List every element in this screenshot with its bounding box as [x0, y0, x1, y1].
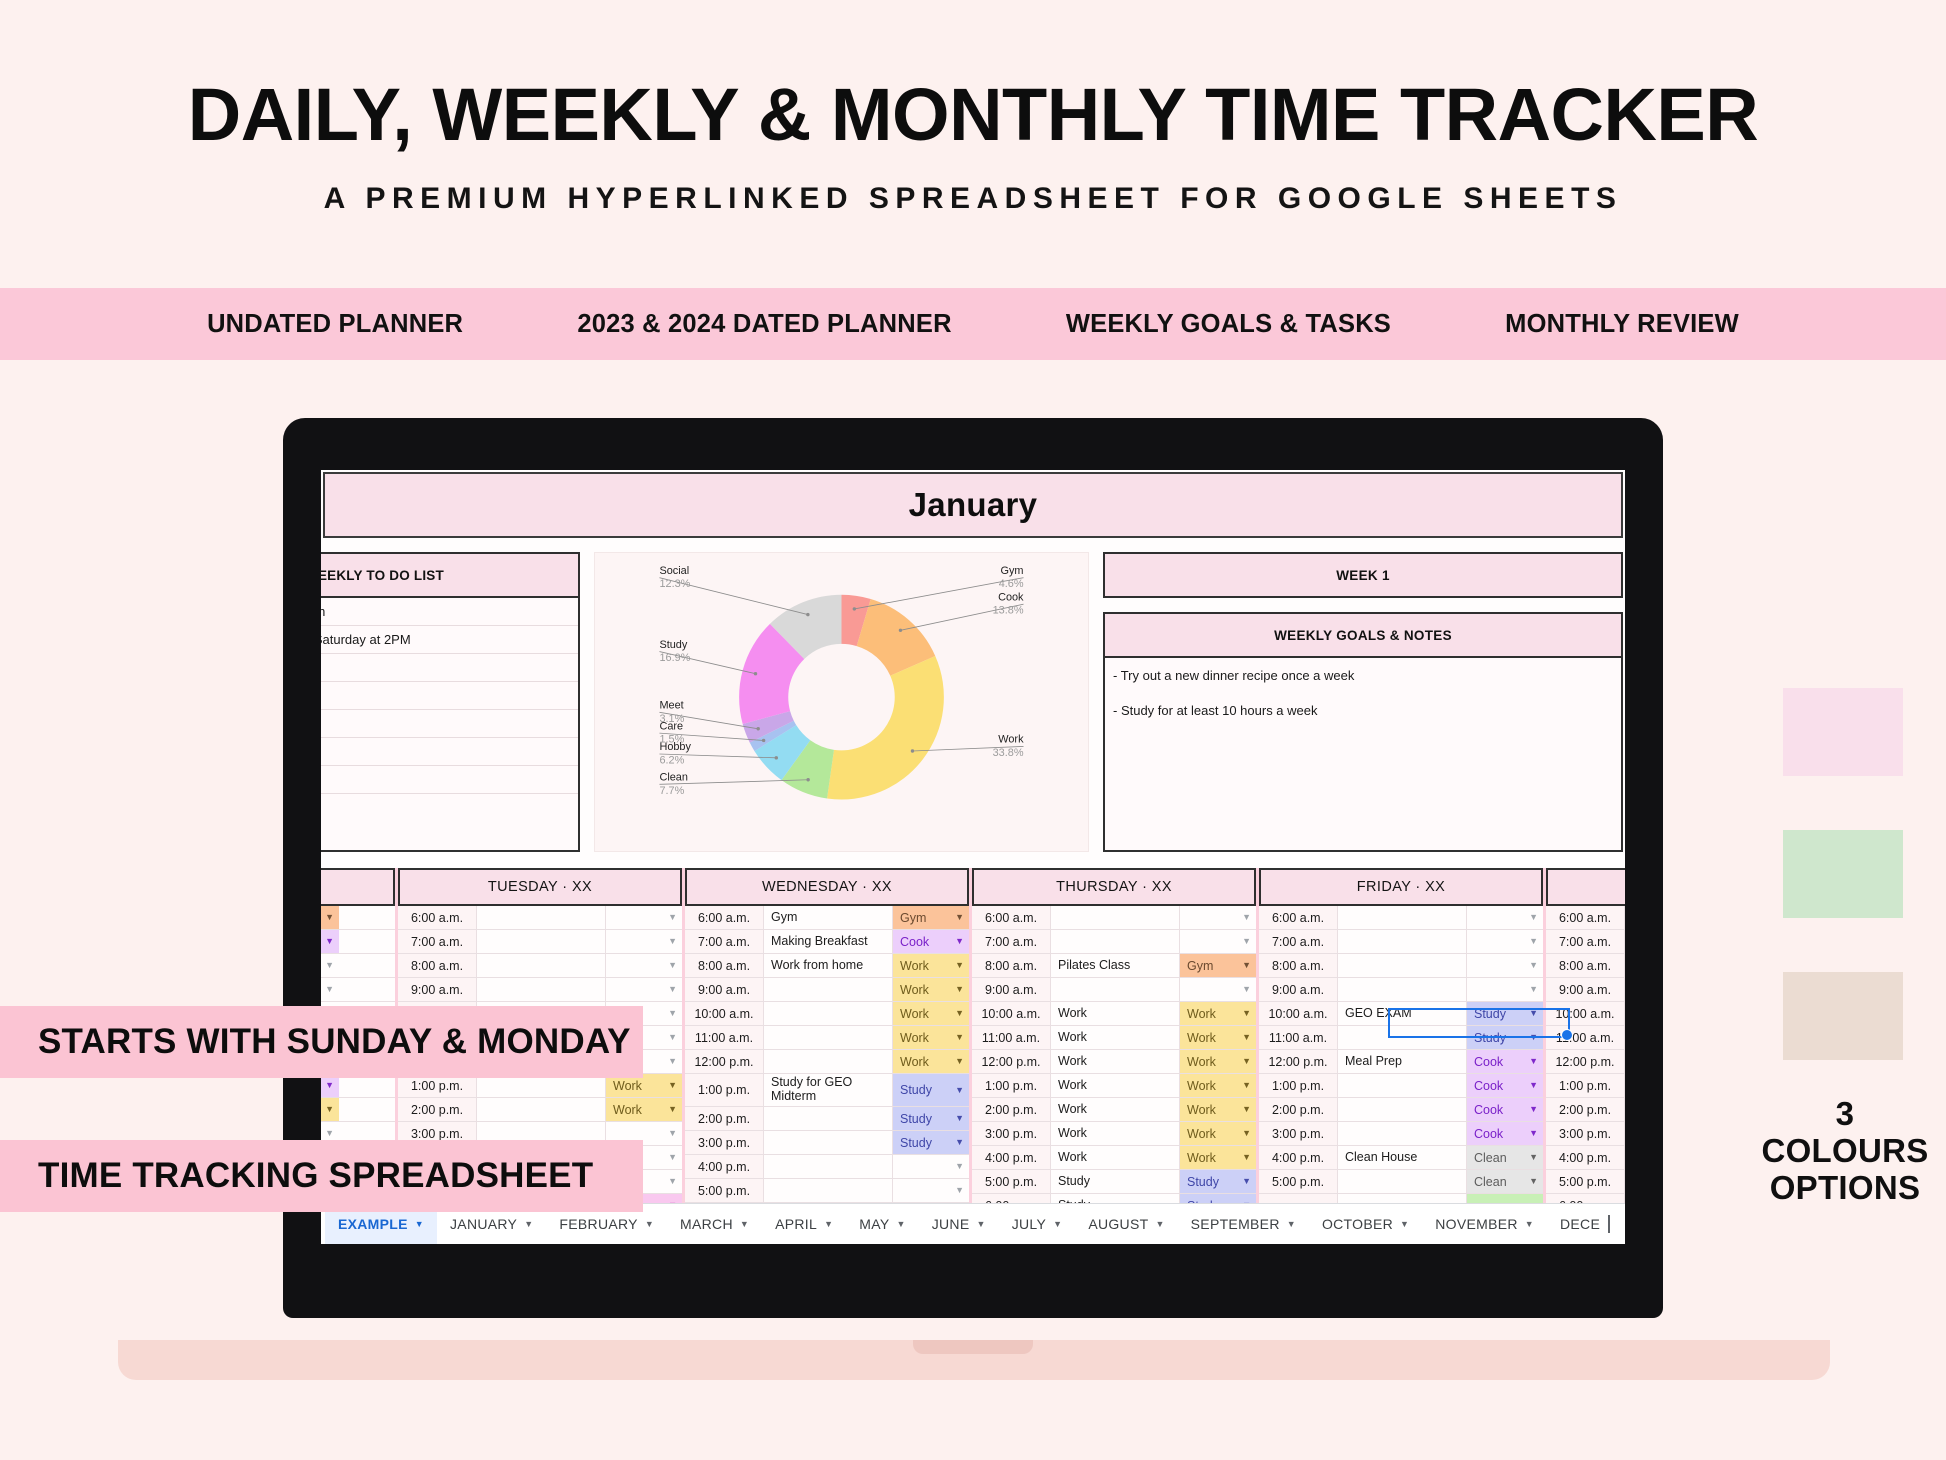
chevron-down-icon[interactable]: ▼ — [955, 1057, 964, 1066]
category-dropdown[interactable]: Work▼ — [1180, 1050, 1256, 1073]
time-cell[interactable]: 4:00 p.m. — [1546, 1146, 1625, 1169]
task-cell[interactable] — [1051, 978, 1180, 1001]
weekly-todo-rows: erma Saturday at 2PM — [321, 598, 578, 821]
category-dropdown[interactable]: ▼ — [893, 1155, 969, 1178]
time-cell[interactable]: 8:00 a.m. — [1259, 954, 1338, 977]
time-cell[interactable]: 4:00 p.m. — [685, 1155, 764, 1178]
weekly-goals-header: WEEKLY GOALS & NOTES — [1105, 614, 1621, 658]
chevron-down-icon[interactable]: ▼ — [1242, 961, 1251, 970]
day-column: THURSDAY · XX6:00 a.m.▼7:00 a.m.▼8:00 a.… — [972, 868, 1259, 1227]
banner-time-tracking: TIME TRACKING SPREADSHEET — [0, 1140, 643, 1212]
category-dropdown[interactable]: Cook▼ — [1467, 1098, 1543, 1121]
time-cell[interactable]: 6:00 a.m. — [1259, 906, 1338, 929]
category-label: Work — [1187, 1127, 1216, 1141]
svg-text:13.8%: 13.8% — [993, 605, 1024, 617]
time-cell[interactable]: 1:00 p.m. — [972, 1074, 1051, 1097]
category-label: Work — [613, 1103, 642, 1117]
time-cell[interactable]: 11:00 a.m. — [1259, 1026, 1338, 1049]
nav-item-2[interactable]: WEEKLY GOALS & TASKS — [1066, 310, 1391, 339]
schedule-row: 9:00 a.m.▼ — [1546, 978, 1625, 1002]
banner-tracking-text: TIME TRACKING SPREADSHEET — [38, 1156, 593, 1196]
day-column: WEDNESDAY · XX6:00 a.m.GymGym▼7:00 a.m.M… — [685, 868, 972, 1227]
task-cell[interactable]: Pilates Class — [1051, 954, 1180, 977]
time-cell[interactable]: 10:00 a.m. — [685, 1002, 764, 1025]
category-donut-chart: Gym4.6%Cook13.8%Work33.8%Clean7.7%Hobby6… — [594, 552, 1089, 852]
schedule-row: 12:00 p.m.Meal PrepCook▼ — [1259, 1050, 1543, 1074]
chevron-down-icon[interactable]: ▼ — [1525, 1219, 1534, 1229]
chevron-down-icon[interactable]: ▼ — [1529, 1177, 1538, 1186]
task-cell[interactable] — [1338, 1170, 1467, 1193]
svg-text:16.9%: 16.9% — [659, 652, 690, 664]
chevron-down-icon[interactable]: ▼ — [325, 913, 334, 922]
nav-item-0[interactable]: UNDATED PLANNER — [207, 310, 463, 339]
task-cell[interactable] — [764, 1131, 893, 1154]
category-dropdown[interactable]: Work▼ — [1180, 1122, 1256, 1145]
chevron-down-icon[interactable]: ▼ — [955, 913, 964, 922]
chevron-down-icon[interactable]: ▼ — [955, 1086, 964, 1095]
sheet-tab-april[interactable]: APRIL▼ — [762, 1204, 846, 1244]
task-cell[interactable]: GEO EXAM — [1338, 1002, 1467, 1025]
schedule-row: 7:00 a.m.▼ — [972, 930, 1256, 954]
chevron-down-icon[interactable]: ▼ — [668, 1033, 677, 1042]
chevron-down-icon[interactable]: ▼ — [955, 1009, 964, 1018]
schedule-row: 7:00 a.m.▼ — [398, 930, 682, 954]
time-cell[interactable]: 9:00 a.m. — [972, 978, 1051, 1001]
category-label: Clean — [1474, 1151, 1507, 1165]
sheet-tab-march[interactable]: MARCH▼ — [667, 1204, 762, 1244]
category-label: Cook — [1474, 1103, 1503, 1117]
schedule-row: 2:00 p.m.Study▼ — [685, 1107, 969, 1131]
task-cell[interactable]: Work from home — [764, 954, 893, 977]
laptop-notch — [913, 1340, 1033, 1354]
schedule-row: 6:00 a.m.▼ — [398, 906, 682, 930]
todo-row[interactable] — [321, 766, 578, 794]
schedule-row: 7:00 a.m.▼ — [1259, 930, 1543, 954]
time-cell[interactable]: 8:00 a.m. — [685, 954, 764, 977]
task-cell[interactable]: Study — [1051, 1170, 1180, 1193]
category-dropdown[interactable]: ▼ — [606, 906, 682, 929]
chevron-down-icon[interactable]: ▼ — [1053, 1219, 1062, 1229]
chevron-down-icon[interactable]: ▼ — [955, 1162, 964, 1171]
time-cell[interactable]: 6:00 a.m. — [1546, 906, 1625, 929]
schedule-row: 9:00 a.m.▼ — [398, 978, 682, 1002]
chevron-down-icon[interactable]: ▼ — [1242, 1129, 1251, 1138]
time-cell[interactable]: 9:00 a.m. — [1546, 978, 1625, 1001]
month-header: January — [323, 472, 1623, 538]
chevron-down-icon[interactable]: ▼ — [524, 1219, 533, 1229]
category-label: Study — [1474, 1031, 1506, 1045]
category-dropdown[interactable]: Study▼ — [893, 1131, 969, 1154]
spreadsheet: January WEEKLY TO DO LIST erma Saturday … — [321, 470, 1625, 1244]
chevron-down-icon[interactable]: ▼ — [1242, 1009, 1251, 1018]
chevron-down-icon[interactable]: ▼ — [415, 1219, 424, 1229]
leader-dot — [756, 727, 759, 730]
colour-swatch-2 — [1783, 972, 1903, 1060]
task-cell[interactable] — [764, 1179, 893, 1202]
chevron-down-icon[interactable]: ▼ — [325, 1129, 334, 1138]
task-cell[interactable]: Work — [1051, 1098, 1180, 1121]
time-cell[interactable]: 2:00 p.m. — [685, 1107, 764, 1130]
category-dropdown[interactable]: ▼ — [1180, 978, 1256, 1001]
chevron-down-icon[interactable]: ▼ — [1242, 937, 1251, 946]
schedule-row: 2:00 p.m.Cook▼ — [1259, 1098, 1543, 1122]
category-dropdown[interactable]: Study▼ — [893, 1074, 969, 1106]
category-dropdown[interactable]: Cook▼ — [321, 930, 339, 953]
category-dropdown[interactable]: ▼ — [321, 954, 339, 977]
task-cell[interactable] — [764, 1050, 893, 1073]
chevron-down-icon[interactable]: ▼ — [955, 937, 964, 946]
chevron-down-icon[interactable]: ▼ — [1242, 985, 1251, 994]
schedule-row: 5:00 p.m.Hobby▼ — [1546, 1170, 1625, 1194]
chevron-down-icon[interactable]: ▼ — [955, 1114, 964, 1123]
todo-row[interactable] — [321, 682, 578, 710]
category-label: Study — [900, 1136, 932, 1150]
task-cell[interactable] — [477, 978, 606, 1001]
time-cell[interactable]: 4:00 p.m. — [1259, 1146, 1338, 1169]
todo-row[interactable] — [321, 654, 578, 682]
time-cell[interactable]: 2:00 p.m. — [972, 1098, 1051, 1121]
chevron-down-icon[interactable]: ▼ — [1529, 937, 1538, 946]
time-cell[interactable]: 6:00 a.m. — [398, 906, 477, 929]
chevron-down-icon[interactable]: ▼ — [668, 1105, 677, 1114]
time-cell[interactable]: 5:00 p.m. — [1259, 1170, 1338, 1193]
week-header: WEEK 1 — [1103, 552, 1623, 598]
colours-options-label: 3 COLOURS OPTIONS — [1760, 1096, 1930, 1207]
sheet-tab-label: OCTOBER — [1322, 1216, 1393, 1232]
category-dropdown[interactable]: ▼ — [606, 930, 682, 953]
time-cell[interactable]: 1:00 p.m. — [1546, 1074, 1625, 1097]
svg-text:Social: Social — [659, 565, 689, 577]
category-dropdown[interactable]: ▼ — [606, 978, 682, 1001]
chevron-down-icon[interactable]: ▼ — [1529, 961, 1538, 970]
sheet-tab-june[interactable]: JUNE▼ — [919, 1204, 999, 1244]
task-cell[interactable]: Work — [1051, 1050, 1180, 1073]
time-cell[interactable]: 3:00 p.m. — [1259, 1122, 1338, 1145]
chevron-down-icon[interactable]: ▼ — [955, 1033, 964, 1042]
time-cell[interactable]: 5:00 p.m. — [972, 1170, 1051, 1193]
todo-row[interactable] — [321, 794, 578, 821]
chevron-down-icon[interactable]: ▼ — [1529, 1033, 1538, 1042]
category-label: Work — [900, 1055, 929, 1069]
colour-swatches — [1783, 688, 1903, 1114]
time-cell[interactable]: 7:00 a.m. — [972, 930, 1051, 953]
task-cell[interactable]: Work — [1051, 1002, 1180, 1025]
category-label: Work — [1187, 1055, 1216, 1069]
chevron-down-icon[interactable]: ▼ — [668, 985, 677, 994]
chevron-down-icon[interactable]: ▼ — [1242, 1153, 1251, 1162]
chevron-down-icon[interactable]: ▼ — [325, 985, 334, 994]
sheet-tab-label: JANUARY — [450, 1216, 517, 1232]
chevron-down-icon[interactable]: ▼ — [668, 1057, 677, 1066]
chevron-down-icon[interactable]: ▼ — [325, 961, 334, 970]
category-dropdown[interactable]: Work▼ — [893, 1026, 969, 1049]
time-cell[interactable]: 11:00 a.m. — [1546, 1026, 1625, 1049]
task-cell[interactable] — [477, 906, 606, 929]
donut-slice-work — [827, 656, 944, 800]
chevron-down-icon[interactable]: ▼ — [976, 1219, 985, 1229]
time-cell[interactable]: 11:00 a.m. — [685, 1026, 764, 1049]
schedule-row: 1:00 p.m.▼ — [1546, 1074, 1625, 1098]
time-cell[interactable]: 8:00 a.m. — [398, 954, 477, 977]
category-dropdown[interactable]: Work▼ — [893, 978, 969, 1001]
category-dropdown[interactable]: Cook▼ — [893, 930, 969, 953]
category-dropdown[interactable]: Work▼ — [606, 1098, 682, 1121]
chevron-down-icon[interactable]: ▼ — [1242, 1057, 1251, 1066]
chevron-down-icon[interactable]: ▼ — [668, 937, 677, 946]
schedule-row: 5:00 p.m.▼ — [685, 1179, 969, 1203]
schedule-row: Cook▼ — [321, 930, 395, 954]
leader-dot — [775, 756, 778, 759]
time-cell[interactable]: 2:00 p.m. — [1259, 1098, 1338, 1121]
chevron-down-icon[interactable]: ▼ — [955, 985, 964, 994]
sheet-tab-label: AUGUST — [1088, 1216, 1148, 1232]
chevron-down-icon[interactable]: ▼ — [1242, 1105, 1251, 1114]
sheet-tab-october[interactable]: OCTOBER▼ — [1309, 1204, 1422, 1244]
task-cell[interactable] — [477, 930, 606, 953]
time-cell[interactable]: 10:00 a.m. — [1546, 1002, 1625, 1025]
task-cell[interactable] — [764, 1107, 893, 1130]
chevron-down-icon[interactable]: ▼ — [1400, 1219, 1409, 1229]
day-header: SATURDAY · XX — [1546, 868, 1625, 906]
category-dropdown[interactable]: ▼ — [1180, 906, 1256, 929]
day-header — [321, 868, 395, 906]
time-cell[interactable]: 3:00 p.m. — [685, 1131, 764, 1154]
chevron-down-icon[interactable]: ▼ — [955, 961, 964, 970]
time-cell[interactable]: 1:00 p.m. — [685, 1074, 764, 1106]
chevron-down-icon[interactable]: ▼ — [955, 1186, 964, 1195]
time-cell[interactable]: 9:00 a.m. — [1259, 978, 1338, 1001]
category-dropdown[interactable]: Work▼ — [1180, 1098, 1256, 1121]
category-dropdown[interactable]: Work▼ — [1180, 1074, 1256, 1097]
task-cell[interactable] — [1338, 1026, 1467, 1049]
schedule-row: 1:00 p.m.WorkWork▼ — [972, 1074, 1256, 1098]
chevron-down-icon[interactable]: ▼ — [1529, 1057, 1538, 1066]
category-dropdown[interactable]: Work▼ — [321, 1098, 339, 1121]
chevron-down-icon[interactable]: ▼ — [740, 1219, 749, 1229]
task-cell[interactable] — [477, 1098, 606, 1121]
category-dropdown[interactable]: Clean▼ — [1467, 1170, 1543, 1193]
chevron-down-icon[interactable]: ▼ — [824, 1219, 833, 1229]
schedule-row: 3:00 p.m.▼ — [1546, 1122, 1625, 1146]
chevron-down-icon[interactable]: ▼ — [1287, 1219, 1296, 1229]
schedule-row: 4:00 p.m.WorkWork▼ — [972, 1146, 1256, 1170]
time-cell[interactable]: 9:00 a.m. — [398, 978, 477, 1001]
schedule-row: 8:00 a.m.▼ — [1546, 954, 1625, 978]
task-cell[interactable]: Clean House — [1338, 1146, 1467, 1169]
task-cell[interactable] — [1338, 930, 1467, 953]
category-dropdown[interactable]: Cook▼ — [1467, 1074, 1543, 1097]
category-dropdown[interactable]: Gym▼ — [1180, 954, 1256, 977]
time-cell[interactable]: 8:00 a.m. — [1546, 954, 1625, 977]
category-dropdown[interactable]: Work▼ — [1180, 1026, 1256, 1049]
nav-item-1[interactable]: 2023 & 2024 DATED PLANNER — [577, 310, 951, 339]
category-dropdown[interactable]: Study▼ — [1467, 1026, 1543, 1049]
todo-row[interactable] — [321, 738, 578, 766]
category-dropdown[interactable]: ▼ — [1467, 978, 1543, 1001]
time-cell[interactable]: 6:00 a.m. — [685, 906, 764, 929]
time-cell[interactable]: 10:00 a.m. — [972, 1002, 1051, 1025]
time-cell[interactable]: 3:00 p.m. — [1546, 1122, 1625, 1145]
chevron-down-icon[interactable]: ▼ — [668, 1009, 677, 1018]
category-dropdown[interactable]: Work▼ — [893, 954, 969, 977]
nav-item-3[interactable]: MONTHLY REVIEW — [1505, 310, 1739, 339]
schedule-row: 4:00 p.m.▼ — [685, 1155, 969, 1179]
task-cell[interactable]: Gym — [764, 906, 893, 929]
task-cell[interactable] — [764, 1002, 893, 1025]
category-dropdown[interactable]: Work▼ — [1180, 1002, 1256, 1025]
colour-swatch-0 — [1783, 688, 1903, 776]
weekly-todo-header: WEEKLY TO DO LIST — [321, 554, 578, 598]
chevron-down-icon[interactable]: ▼ — [955, 1138, 964, 1147]
chevron-down-icon[interactable]: ▼ — [668, 1129, 677, 1138]
category-dropdown[interactable]: ▼ — [1467, 906, 1543, 929]
task-cell[interactable]: Work — [1051, 1074, 1180, 1097]
task-cell[interactable] — [477, 954, 606, 977]
time-cell[interactable]: 7:00 a.m. — [1259, 930, 1338, 953]
chevron-down-icon[interactable]: ▼ — [1242, 1177, 1251, 1186]
chevron-down-icon[interactable]: ▼ — [1155, 1219, 1164, 1229]
category-dropdown[interactable]: ▼ — [1180, 930, 1256, 953]
task-cell[interactable] — [1338, 954, 1467, 977]
leader-dot — [899, 629, 902, 632]
category-dropdown[interactable]: Cook▼ — [1467, 1050, 1543, 1073]
category-dropdown[interactable]: Study▼ — [1180, 1170, 1256, 1193]
colours-word: COLOURS — [1760, 1133, 1930, 1170]
time-cell[interactable]: 1:00 p.m. — [1259, 1074, 1338, 1097]
category-dropdown[interactable]: Gym▼ — [321, 906, 339, 929]
sheet-tab-july[interactable]: JULY▼ — [999, 1204, 1076, 1244]
category-dropdown[interactable]: Work▼ — [893, 1002, 969, 1025]
time-cell[interactable]: 3:00 p.m. — [972, 1122, 1051, 1145]
todo-row[interactable] — [321, 710, 578, 738]
chevron-down-icon[interactable]: ▼ — [668, 913, 677, 922]
task-cell[interactable] — [764, 1155, 893, 1178]
time-cell[interactable]: 5:00 p.m. — [1546, 1170, 1625, 1193]
task-cell[interactable] — [1051, 906, 1180, 929]
time-cell[interactable]: 10:00 a.m. — [1259, 1002, 1338, 1025]
task-cell[interactable] — [1338, 906, 1467, 929]
task-cell[interactable]: Work — [1051, 1026, 1180, 1049]
task-cell[interactable] — [1338, 1074, 1467, 1097]
chevron-down-icon[interactable]: ▼ — [1529, 913, 1538, 922]
time-cell[interactable]: 9:00 a.m. — [685, 978, 764, 1001]
time-cell[interactable]: 12:00 p.m. — [685, 1050, 764, 1073]
chevron-down-icon[interactable]: ▼ — [1242, 1033, 1251, 1042]
chevron-down-icon[interactable]: ▼ — [325, 937, 334, 946]
time-cell[interactable]: 4:00 p.m. — [972, 1146, 1051, 1169]
category-dropdown[interactable]: Cook▼ — [1467, 1122, 1543, 1145]
time-cell[interactable]: 11:00 a.m. — [972, 1026, 1051, 1049]
category-dropdown[interactable]: ▼ — [1467, 930, 1543, 953]
sheet-tab-label: SEPTEMBER — [1191, 1216, 1280, 1232]
chevron-down-icon[interactable]: ▼ — [668, 1177, 677, 1186]
sheet-tab-label: MARCH — [680, 1216, 733, 1232]
task-cell[interactable]: Work — [1051, 1146, 1180, 1169]
time-cell[interactable]: 12:00 p.m. — [1546, 1050, 1625, 1073]
category-dropdown[interactable]: ▼ — [893, 1179, 969, 1202]
sheet-tab-dece[interactable]: DECE — [1547, 1204, 1610, 1244]
time-cell[interactable]: 2:00 p.m. — [398, 1098, 477, 1121]
time-cell[interactable]: 8:00 a.m. — [972, 954, 1051, 977]
svg-text:Clean: Clean — [659, 772, 687, 784]
category-dropdown[interactable]: Gym▼ — [893, 906, 969, 929]
schedule-row: 8:00 a.m.▼ — [398, 954, 682, 978]
task-cell[interactable]: Making Breakfast — [764, 930, 893, 953]
tab-nav[interactable]: ‹› — [1610, 1213, 1625, 1236]
chevron-down-icon[interactable]: ▼ — [325, 1105, 334, 1114]
time-cell[interactable]: 5:00 p.m. — [685, 1179, 764, 1202]
options-word: OPTIONS — [1760, 1170, 1930, 1207]
chevron-down-icon[interactable]: ▼ — [645, 1219, 654, 1229]
category-dropdown[interactable]: Study▼ — [1467, 1002, 1543, 1025]
time-cell[interactable]: 6:00 a.m. — [972, 906, 1051, 929]
chevron-down-icon[interactable]: ▼ — [1529, 985, 1538, 994]
chevron-down-icon[interactable]: ▼ — [668, 961, 677, 970]
chevron-down-icon[interactable]: ▼ — [1242, 1081, 1251, 1090]
category-dropdown[interactable]: Work▼ — [893, 1050, 969, 1073]
category-label: Cook — [1474, 1127, 1503, 1141]
sheet-tab-august[interactable]: AUGUST▼ — [1075, 1204, 1177, 1244]
task-cell[interactable]: Study for GEO Midterm — [764, 1074, 893, 1106]
chevron-down-icon[interactable]: ▼ — [1242, 913, 1251, 922]
category-dropdown[interactable]: Study▼ — [893, 1107, 969, 1130]
category-dropdown[interactable]: ▼ — [606, 954, 682, 977]
task-cell[interactable] — [1338, 978, 1467, 1001]
task-cell[interactable] — [1051, 930, 1180, 953]
category-label: Cook — [1474, 1079, 1503, 1093]
time-cell[interactable]: 7:00 a.m. — [1546, 930, 1625, 953]
category-label: Study — [900, 1112, 932, 1126]
donut-chart-svg: Gym4.6%Cook13.8%Work33.8%Clean7.7%Hobby6… — [595, 553, 1088, 837]
chevron-down-icon[interactable]: ▼ — [668, 1153, 677, 1162]
task-cell[interactable]: Work — [1051, 1122, 1180, 1145]
svg-text:4.6%: 4.6% — [999, 578, 1024, 590]
schedule-row: 11:00 a.m.WorkWork▼ — [972, 1026, 1256, 1050]
chevron-down-icon[interactable]: ▼ — [325, 1081, 334, 1090]
task-cell[interactable] — [1338, 1098, 1467, 1121]
category-dropdown[interactable]: Work▼ — [1180, 1146, 1256, 1169]
time-cell[interactable]: 2:00 p.m. — [1546, 1098, 1625, 1121]
task-cell[interactable] — [764, 978, 893, 1001]
chevron-down-icon[interactable]: ▼ — [896, 1219, 905, 1229]
time-cell[interactable]: 7:00 a.m. — [685, 930, 764, 953]
task-cell[interactable]: Meal Prep — [1338, 1050, 1467, 1073]
chevron-down-icon[interactable]: ▼ — [1529, 1009, 1538, 1018]
chevron-down-icon[interactable]: ▼ — [1529, 1129, 1538, 1138]
category-dropdown[interactable]: ▼ — [321, 978, 339, 1001]
category-dropdown[interactable]: Clean▼ — [1467, 1146, 1543, 1169]
schedule-row: 7:00 a.m.Making BreakfastCook▼ — [685, 930, 969, 954]
category-dropdown[interactable]: ▼ — [1467, 954, 1543, 977]
time-cell[interactable]: 12:00 p.m. — [1259, 1050, 1338, 1073]
sheet-tab-may[interactable]: MAY▼ — [846, 1204, 918, 1244]
chevron-down-icon[interactable]: ▼ — [668, 1081, 677, 1090]
task-cell[interactable] — [1338, 1122, 1467, 1145]
prev-tabs-icon[interactable]: ‹ — [1624, 1213, 1625, 1236]
chevron-down-icon[interactable]: ▼ — [1529, 1081, 1538, 1090]
svg-text:12.3%: 12.3% — [659, 578, 690, 590]
task-cell[interactable] — [764, 1026, 893, 1049]
todo-row[interactable]: erm — [321, 598, 578, 626]
category-label: Work — [1187, 1151, 1216, 1165]
sheet-tab-september[interactable]: SEPTEMBER▼ — [1178, 1204, 1309, 1244]
time-cell[interactable]: 12:00 p.m. — [972, 1050, 1051, 1073]
time-cell[interactable]: 7:00 a.m. — [398, 930, 477, 953]
sheet-tab-november[interactable]: NOVEMBER▼ — [1422, 1204, 1547, 1244]
chevron-down-icon[interactable]: ▼ — [1529, 1105, 1538, 1114]
todo-row[interactable]: a Saturday at 2PM — [321, 626, 578, 654]
chevron-down-icon[interactable]: ▼ — [1529, 1153, 1538, 1162]
